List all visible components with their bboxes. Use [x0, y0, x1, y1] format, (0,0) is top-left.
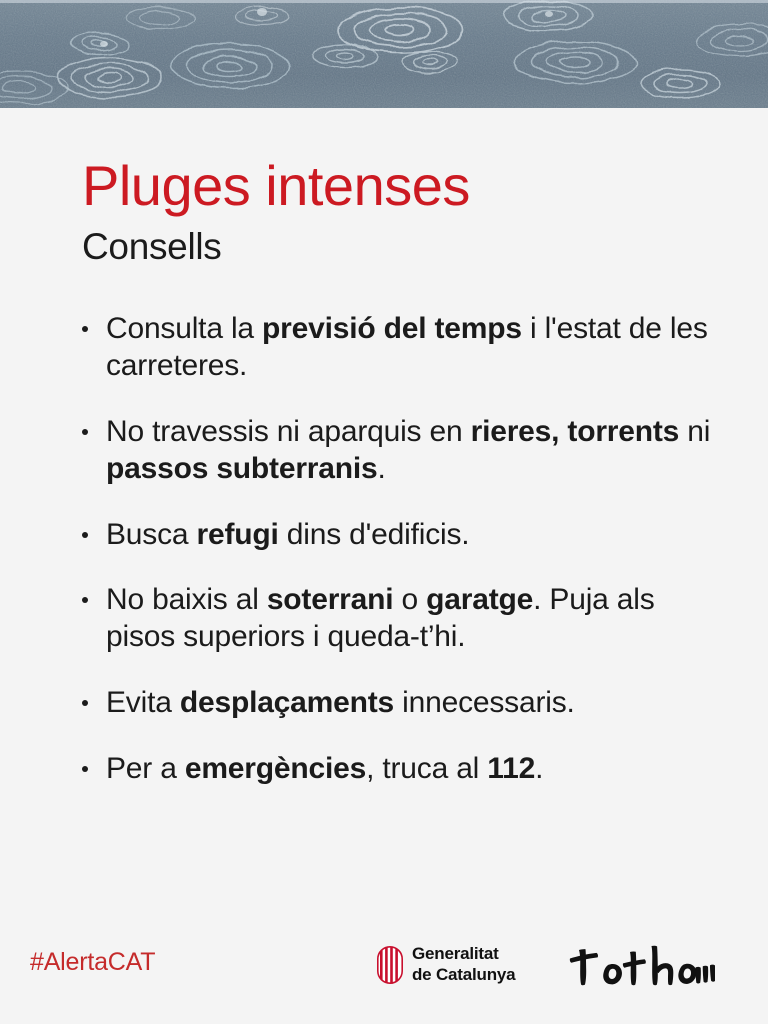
tip-text: No travessis ni aparquis en rieres, torr… — [106, 415, 710, 485]
tip-emphasis: 112 — [487, 752, 535, 785]
generalitat-shield-icon — [377, 946, 403, 984]
tip-emphasis: rieres, torrents — [471, 415, 680, 448]
generalitat-line2: de Catalunya — [412, 965, 515, 986]
tip-item: Per a emergències, truca al 112. — [80, 751, 716, 788]
tip-text: No baixis al soterrani o garatge. Puja a… — [106, 583, 655, 653]
tip-emphasis: passos subterranis — [106, 452, 378, 485]
tip-text: Evita desplaçaments innecessaris. — [106, 686, 575, 719]
headline-block: Pluges intenses Consells — [0, 108, 768, 265]
tip-plain: dins d'edificis. — [279, 518, 470, 551]
tip-plain: No travessis ni aparquis en — [106, 415, 471, 448]
tip-item: No baixis al soterrani o garatge. Puja a… — [80, 582, 716, 656]
tip-plain: Busca — [106, 518, 197, 551]
poster-root: Pluges intenses Consells Consulta la pre… — [0, 0, 768, 1024]
poster-footer: #AlertaCAT Generalita — [0, 920, 768, 1024]
bullet-dot-icon — [82, 326, 88, 332]
page-title: Pluges intenses — [82, 158, 768, 214]
tip-text: Per a emergències, truca al 112. — [106, 752, 543, 785]
tip-emphasis: emergències — [185, 752, 366, 785]
tip-emphasis: soterrani — [267, 583, 394, 616]
hero-rain-image — [0, 0, 768, 108]
poster-content: Pluges intenses Consells Consulta la pre… — [0, 108, 768, 1024]
tip-plain: Evita — [106, 686, 180, 719]
bullet-dot-icon — [82, 429, 88, 435]
bullet-dot-icon — [82, 532, 88, 538]
tip-item: Consulta la previsió del temps i l'estat… — [80, 311, 716, 385]
hashtag-alertacat: #AlertaCAT — [30, 948, 155, 977]
tip-plain: Per a — [106, 752, 185, 785]
bullet-dot-icon — [82, 766, 88, 772]
tip-plain: . — [535, 752, 543, 785]
tip-plain: No baixis al — [106, 583, 267, 616]
tip-text: Consulta la previsió del temps i l'estat… — [106, 312, 708, 382]
tip-item: No travessis ni aparquis en rieres, torr… — [80, 414, 716, 488]
tip-plain: , truca al — [366, 752, 487, 785]
tip-item: Busca refugi dins d'edificis. — [80, 517, 716, 554]
generalitat-line1: Generalitat — [412, 944, 515, 965]
bullet-dot-icon — [82, 597, 88, 603]
tips-list: Consulta la previsió del temps i l'estat… — [0, 311, 768, 788]
hero-top-highlight — [0, 0, 768, 3]
bullet-dot-icon — [82, 700, 88, 706]
generalitat-wordmark: Generalitat de Catalunya — [412, 944, 515, 985]
tothom-brush-logo-icon — [567, 940, 715, 992]
tip-plain: o — [393, 583, 426, 616]
tip-emphasis: refugi — [197, 518, 279, 551]
tip-plain: innecessaris. — [394, 686, 575, 719]
tothom-logo — [567, 940, 715, 992]
tip-item: Evita desplaçaments innecessaris. — [80, 685, 716, 722]
tip-emphasis: previsió del temps — [262, 312, 522, 345]
tip-plain: ni — [679, 415, 710, 448]
tip-emphasis: desplaçaments — [180, 686, 394, 719]
tip-plain: . — [378, 452, 386, 485]
rain-ripples-icon — [0, 0, 768, 108]
tip-text: Busca refugi dins d'edificis. — [106, 518, 469, 551]
tip-plain: Consulta la — [106, 312, 262, 345]
tip-emphasis: garatge — [426, 583, 533, 616]
page-subtitle: Consells — [82, 228, 768, 265]
generalitat-logo: Generalitat de Catalunya — [377, 944, 515, 985]
